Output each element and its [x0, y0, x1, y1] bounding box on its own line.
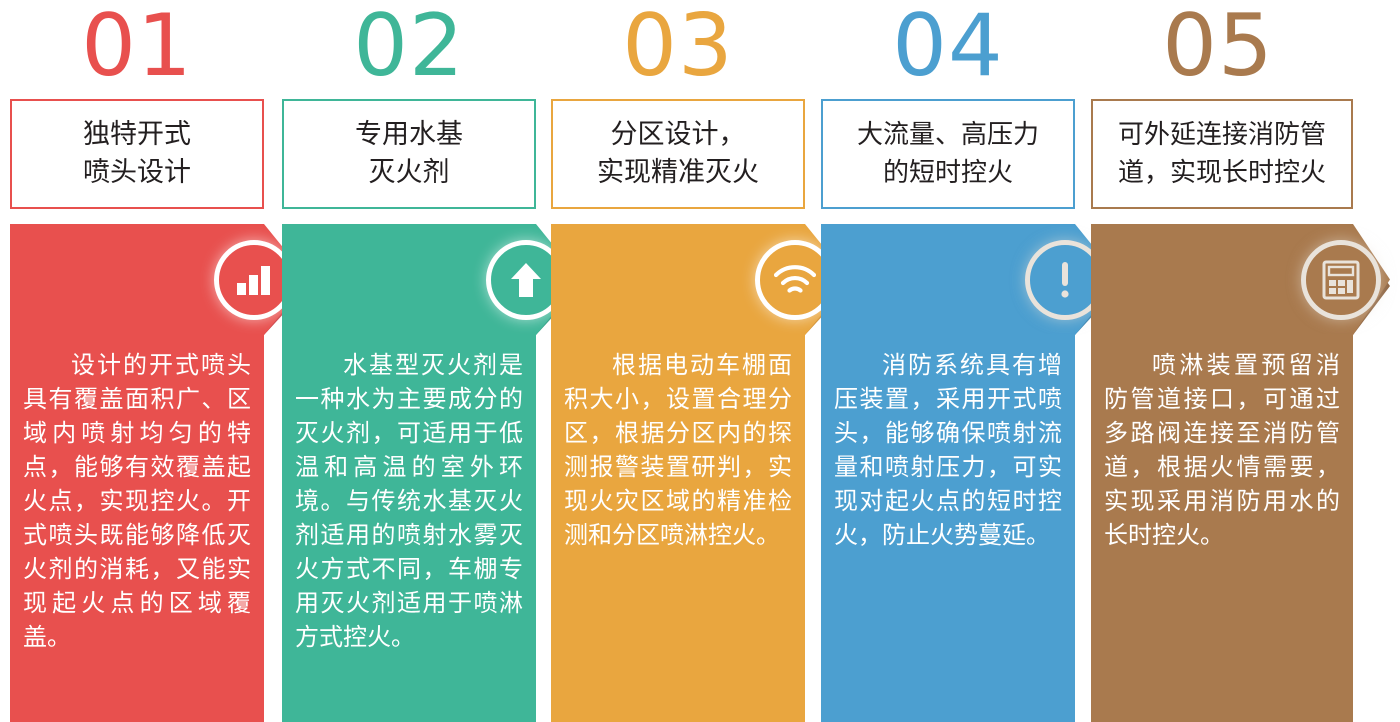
infographic-column-3: 03 分区设计， 实现精准灭火 根据电动车棚面积大小，设置合理分区，根据分区内的…	[551, 0, 805, 722]
step-body-text-3: 根据电动车棚面积大小，设置合理分区，根据分区内的探测报警装置研判，实现火灾区域的…	[564, 348, 792, 552]
step-number-4: 04	[821, 0, 1075, 94]
step-icon-wrap-5	[1301, 240, 1381, 320]
calculator-icon	[1301, 240, 1381, 320]
infographic-root: 01 独特开式 喷头设计 设计的开式喷头具有覆盖面积广、区域内喷射均匀的特点，能…	[0, 0, 1400, 722]
step-title-5: 可外延连接消防管 道，实现长时控火	[1118, 116, 1326, 192]
step-title-box-4: 大流量、高压力 的短时控火	[821, 99, 1075, 209]
step-body-text-1: 设计的开式喷头具有覆盖面积广、区域内喷射均匀的特点，能够有效覆盖起火点，实现控火…	[23, 348, 251, 654]
step-number-1: 01	[10, 0, 264, 94]
infographic-column-2: 02 专用水基 灭火剂 水基型灭火剂是一种水为主要成分的灭火剂，可适用于低温和高…	[282, 0, 536, 722]
step-body-panel-3: 根据电动车棚面积大小，设置合理分区，根据分区内的探测报警装置研判，实现火灾区域的…	[551, 334, 805, 722]
infographic-column-1: 01 独特开式 喷头设计 设计的开式喷头具有覆盖面积广、区域内喷射均匀的特点，能…	[10, 0, 264, 722]
step-body-text-4: 消防系统具有增压装置，采用开式喷头，能够确保喷射流量和喷射压力，可实现对起火点的…	[834, 348, 1062, 552]
step-body-panel-4: 消防系统具有增压装置，采用开式喷头，能够确保喷射流量和喷射压力，可实现对起火点的…	[821, 334, 1075, 722]
step-number-2: 02	[282, 0, 536, 94]
infographic-column-5: 05 可外延连接消防管 道，实现长时控火	[1091, 0, 1345, 722]
step-body-panel-2: 水基型灭火剂是一种水为主要成分的灭火剂，可适用于低温和高温的室外环境。与传统水基…	[282, 334, 536, 722]
step-body-panel-1: 设计的开式喷头具有覆盖面积广、区域内喷射均匀的特点，能够有效覆盖起火点，实现控火…	[10, 334, 264, 722]
step-body-text-2: 水基型灭火剂是一种水为主要成分的灭火剂，可适用于低温和高温的室外环境。与传统水基…	[295, 348, 523, 654]
step-number-5: 05	[1091, 0, 1345, 94]
infographic-column-4: 04 大流量、高压力 的短时控火 消防系统具有增压装置，采用开式喷头，能够确保喷…	[821, 0, 1075, 722]
step-body-panel-5: 喷淋装置预留消防管道接口，可通过多路阀连接至消防管道，根据火情需要，实现采用消防…	[1091, 334, 1353, 722]
step-title-4: 大流量、高压力 的短时控火	[857, 116, 1039, 192]
step-number-3: 03	[551, 0, 805, 94]
step-title-1: 独特开式 喷头设计	[83, 116, 191, 192]
step-title-box-2: 专用水基 灭火剂	[282, 99, 536, 209]
step-title-3: 分区设计， 实现精准灭火	[597, 116, 759, 192]
step-title-2: 专用水基 灭火剂	[355, 116, 463, 192]
step-title-box-1: 独特开式 喷头设计	[10, 99, 264, 209]
step-title-box-3: 分区设计， 实现精准灭火	[551, 99, 805, 209]
step-title-box-5: 可外延连接消防管 道，实现长时控火	[1091, 99, 1353, 209]
step-body-text-5: 喷淋装置预留消防管道接口，可通过多路阀连接至消防管道，根据火情需要，实现采用消防…	[1104, 348, 1340, 552]
